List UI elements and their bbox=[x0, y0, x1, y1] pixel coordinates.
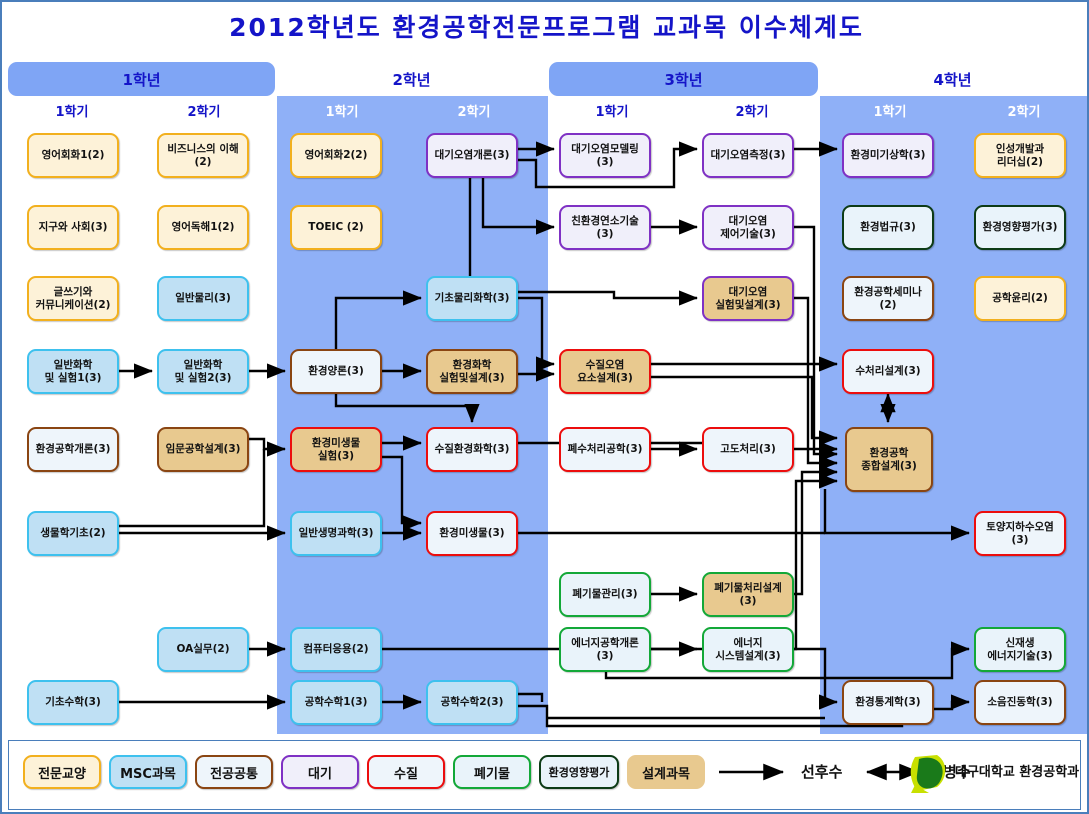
year-header-2: 2학년 bbox=[278, 62, 545, 96]
course-box-y3s2r2[interactable]: 대기오염 제어기술(3) bbox=[702, 205, 794, 250]
course-box-y3s1r6[interactable]: 에너지공학개론 (3) bbox=[559, 627, 651, 672]
course-box-y4s1r3[interactable]: 환경공학세미나 (2) bbox=[842, 276, 934, 321]
legend-item-gened[interactable]: 전문교양 bbox=[23, 755, 101, 789]
university-logo-text: 대구대학교 환경공학과 bbox=[955, 761, 1079, 780]
course-box-y4s2r1[interactable]: 인성개발과 리더십(2) bbox=[974, 133, 1066, 178]
course-box-y4s1r6[interactable]: 환경통계학(3) bbox=[842, 680, 934, 725]
course-box-y1s2r5[interactable]: 임문공학설계(3) bbox=[157, 427, 249, 472]
course-box-y2s2r2[interactable]: 기초물리화학(3) bbox=[426, 276, 518, 321]
course-box-y3s2r5[interactable]: 폐기물처리설계 (3) bbox=[702, 572, 794, 617]
course-box-y2s1r7[interactable]: 공학수학1(3) bbox=[290, 680, 382, 725]
course-box-y2s2r1[interactable]: 대기오염개론(3) bbox=[426, 133, 518, 178]
course-box-y4s2r6[interactable]: 소음진동학(3) bbox=[974, 680, 1066, 725]
course-box-y3s1r2[interactable]: 친환경연소기술 (3) bbox=[559, 205, 651, 250]
course-box-y2s1r2[interactable]: TOEIC (2) bbox=[290, 205, 382, 250]
semester-header-y4s1: 1학기 bbox=[830, 101, 950, 123]
course-box-y2s1r6[interactable]: 컴퓨터응용(2) bbox=[290, 627, 382, 672]
course-box-y1s1r1[interactable]: 영어회화1(2) bbox=[27, 133, 119, 178]
course-box-y2s1r5[interactable]: 일반생명과학(3) bbox=[290, 511, 382, 556]
course-box-y2s1r3[interactable]: 환경양론(3) bbox=[290, 349, 382, 394]
legend-item-common[interactable]: 전공공통 bbox=[195, 755, 273, 789]
course-box-y4s1r5[interactable]: 환경공학 종합설계(3) bbox=[845, 427, 933, 492]
course-box-y3s1r3[interactable]: 수질오염 요소설계(3) bbox=[559, 349, 651, 394]
course-box-y4s2r3[interactable]: 공학윤리(2) bbox=[974, 276, 1066, 321]
university-logo-icon bbox=[907, 751, 953, 795]
legend-item-design[interactable]: 설계과목 bbox=[627, 755, 705, 789]
year-header-4: 4학년 bbox=[820, 62, 1085, 96]
legend-item-water[interactable]: 수질 bbox=[367, 755, 445, 789]
course-box-y3s2r6[interactable]: 에너지 시스템설계(3) bbox=[702, 627, 794, 672]
course-box-y3s1r4[interactable]: 폐수처리공학(3) bbox=[559, 427, 651, 472]
legend-prereq-label: 선후수 bbox=[801, 761, 842, 782]
year-header-1: 1학년 bbox=[8, 62, 275, 96]
course-box-y4s1r1[interactable]: 환경미기상학(3) bbox=[842, 133, 934, 178]
course-box-y3s1r1[interactable]: 대기오염모델링 (3) bbox=[559, 133, 651, 178]
course-box-y1s1r5[interactable]: 환경공학개론(3) bbox=[27, 427, 119, 472]
course-box-y1s1r3[interactable]: 글쓰기와 커뮤니케이션(2) bbox=[27, 276, 119, 321]
course-box-y2s1r1[interactable]: 영어회화2(2) bbox=[290, 133, 382, 178]
legend-item-eia[interactable]: 환경영향평가 bbox=[539, 755, 619, 789]
course-box-y2s2r4[interactable]: 수질환경화학(3) bbox=[426, 427, 518, 472]
course-box-y1s2r6[interactable]: OA실무(2) bbox=[157, 627, 249, 672]
year-header-3: 3학년 bbox=[549, 62, 818, 96]
semester-header-y2s1: 1학기 bbox=[282, 101, 402, 123]
course-box-y1s2r4[interactable]: 일반화학 및 실험2(3) bbox=[157, 349, 249, 394]
course-box-y4s1r4[interactable]: 수처리설계(3) bbox=[842, 349, 934, 394]
course-box-y2s1r4[interactable]: 환경미생물 실험(3) bbox=[290, 427, 382, 472]
legend-item-waste[interactable]: 폐기물 bbox=[453, 755, 531, 789]
legend-item-msc[interactable]: MSC과목 bbox=[109, 755, 187, 789]
course-box-y4s2r5[interactable]: 신재생 에너지기술(3) bbox=[974, 627, 1066, 672]
semester-header-y2s2: 2학기 bbox=[414, 101, 534, 123]
semester-header-y4s2: 2학기 bbox=[964, 101, 1084, 123]
course-box-y1s1r4[interactable]: 일반화학 및 실험1(3) bbox=[27, 349, 119, 394]
course-box-y4s2r2[interactable]: 환경영향평가(3) bbox=[974, 205, 1066, 250]
course-box-y4s1r2[interactable]: 환경법규(3) bbox=[842, 205, 934, 250]
prereq-arrow-icon bbox=[715, 755, 795, 789]
course-box-y3s2r1[interactable]: 대기오염측정(3) bbox=[702, 133, 794, 178]
semester-header-y1s2: 2학기 bbox=[144, 101, 264, 123]
semester-header-y1s1: 1학기 bbox=[12, 101, 132, 123]
course-box-y2s2r5[interactable]: 환경미생물(3) bbox=[426, 511, 518, 556]
course-box-y2s2r3[interactable]: 환경화학 실험및설계(3) bbox=[426, 349, 518, 394]
course-box-y1s2r3[interactable]: 일반물리(3) bbox=[157, 276, 249, 321]
course-box-y1s1r6[interactable]: 생물학기초(2) bbox=[27, 511, 119, 556]
legend: 전문교양 MSC과목 전공공통 대기 수질 폐기물 환경영향평가 설계과목 선후… bbox=[8, 740, 1081, 810]
course-box-y3s2r3[interactable]: 대기오염 실험및설계(3) bbox=[702, 276, 794, 321]
course-box-y4s2r4[interactable]: 토양지하수오염 (3) bbox=[974, 511, 1066, 556]
course-box-y3s2r4[interactable]: 고도처리(3) bbox=[702, 427, 794, 472]
course-box-y3s1r5[interactable]: 폐기물관리(3) bbox=[559, 572, 651, 617]
course-box-y1s1r2[interactable]: 지구와 사회(3) bbox=[27, 205, 119, 250]
course-box-y1s2r2[interactable]: 영어독해1(2) bbox=[157, 205, 249, 250]
curriculum-flowchart: 2012학년도 환경공학전문프로그램 교과목 이수체계도 1학년 2학년 3학년… bbox=[0, 0, 1089, 814]
page-title: 2012학년도 환경공학전문프로그램 교과목 이수체계도 bbox=[2, 8, 1089, 44]
semester-header-y3s1: 1학기 bbox=[552, 101, 672, 123]
course-box-y2s2r6[interactable]: 공학수학2(3) bbox=[426, 680, 518, 725]
course-box-y1s1r7[interactable]: 기초수학(3) bbox=[27, 680, 119, 725]
legend-item-air[interactable]: 대기 bbox=[281, 755, 359, 789]
semester-header-y3s2: 2학기 bbox=[692, 101, 812, 123]
course-box-y1s2r1[interactable]: 비즈니스의 이해 (2) bbox=[157, 133, 249, 178]
